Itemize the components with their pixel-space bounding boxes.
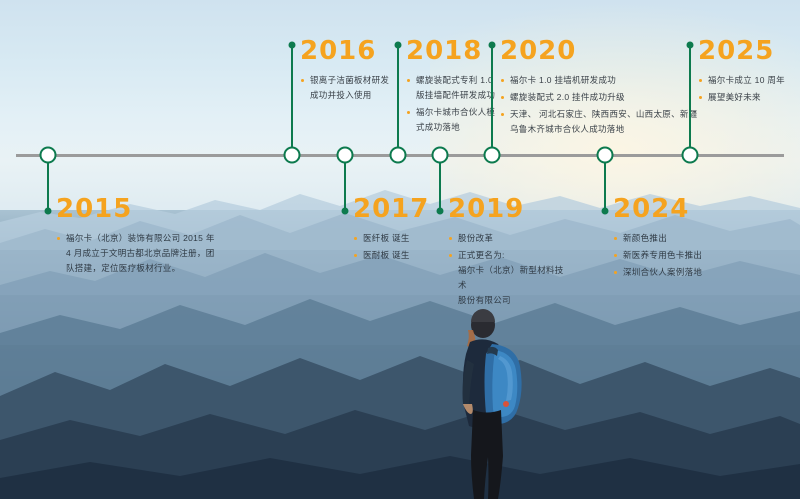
timeline-event-2017[interactable]: 2017 医纤板 诞生 医耐板 诞生 <box>353 196 439 263</box>
event-bullets-2018: 螺旋装配式专利 1.0 版挂墙配件研发成功 福尔卡城市合伙人模 式成功落地 <box>406 73 498 135</box>
event-year-2024: 2024 <box>613 196 743 222</box>
bullet-item: 新医养专用色卡推出 <box>613 248 743 263</box>
bullet-item: 福尔卡（北京）装饰有限公司 2015 年 4 月成立于文明古都北京品牌注册，团 … <box>56 231 236 276</box>
bullet-item: 深圳合伙人案例落地 <box>613 265 743 280</box>
event-bullets-2017: 医纤板 诞生 医耐板 诞生 <box>353 231 439 263</box>
bullet-item: 医耐板 诞生 <box>353 248 439 263</box>
timeline-event-2019[interactable]: 2019 股份改革 正式更名为: 福尔卡（北京）新型材料技术 股份有限公司 <box>448 196 568 308</box>
timeline-node-2015[interactable] <box>40 147 57 164</box>
stem-2025 <box>689 45 691 147</box>
bullet-item: 天津、 河北石家庄、陕西西安、山西太原、新疆 乌鲁木齐城市合伙人成功落地 <box>500 107 700 137</box>
timeline-event-2024[interactable]: 2024 新颜色推出 新医养专用色卡推出 深圳合伙人案例落地 <box>613 196 743 280</box>
event-bullets-2015: 福尔卡（北京）装饰有限公司 2015 年 4 月成立于文明古都北京品牌注册，团 … <box>56 231 236 276</box>
event-year-2015: 2015 <box>56 196 236 222</box>
stem-cap-2018 <box>395 42 402 49</box>
bullet-item: 福尔卡城市合伙人模 式成功落地 <box>406 105 498 135</box>
bullet-item: 展望美好未来 <box>698 90 798 105</box>
stem-2024 <box>604 163 606 211</box>
event-bullets-2025: 福尔卡成立 10 周年 展望美好未来 <box>698 73 798 105</box>
timeline-node-2025[interactable] <box>682 147 699 164</box>
stem-2018 <box>397 45 399 147</box>
stem-cap-2020 <box>489 42 496 49</box>
event-year-2025: 2025 <box>698 38 798 64</box>
hiker-figure <box>440 308 560 499</box>
timeline-infographic: 2015 福尔卡（北京）装饰有限公司 2015 年 4 月成立于文明古都北京品牌… <box>0 0 800 499</box>
timeline-node-2018[interactable] <box>390 147 407 164</box>
stem-2016 <box>291 45 293 147</box>
stem-cap-2015 <box>45 208 52 215</box>
event-bullets-2016: 银离子洁菌板材研发 成功并投入使用 <box>300 73 396 103</box>
bullet-item: 股份改革 <box>448 231 568 246</box>
event-bullets-2020: 福尔卡 1.0 挂墙机研发成功 螺旋装配式 2.0 挂件成功升级 天津、 河北石… <box>500 73 700 137</box>
bullet-item: 螺旋装配式 2.0 挂件成功升级 <box>500 90 700 105</box>
timeline-event-2025[interactable]: 2025 福尔卡成立 10 周年 展望美好未来 <box>698 38 798 105</box>
bullet-item: 银离子洁菌板材研发 成功并投入使用 <box>300 73 396 103</box>
bullet-item: 福尔卡成立 10 周年 <box>698 73 798 88</box>
timeline-node-2020[interactable] <box>484 147 501 164</box>
stem-cap-2024 <box>602 208 609 215</box>
bullet-item: 医纤板 诞生 <box>353 231 439 246</box>
bullet-item: 新颜色推出 <box>613 231 743 246</box>
timeline-node-2017[interactable] <box>337 147 354 164</box>
stem-2019 <box>439 163 441 211</box>
timeline-node-2024[interactable] <box>597 147 614 164</box>
bullet-item: 福尔卡 1.0 挂墙机研发成功 <box>500 73 700 88</box>
event-year-2017: 2017 <box>353 196 439 222</box>
timeline-node-2019[interactable] <box>432 147 449 164</box>
event-bullets-2019: 股份改革 正式更名为: 福尔卡（北京）新型材料技术 股份有限公司 <box>448 231 568 308</box>
stem-2017 <box>344 163 346 211</box>
timeline-event-2018[interactable]: 2018 螺旋装配式专利 1.0 版挂墙配件研发成功 福尔卡城市合伙人模 式成功… <box>406 38 498 135</box>
ridge-layer-foreground <box>0 300 800 499</box>
timeline-event-2020[interactable]: 2020 福尔卡 1.0 挂墙机研发成功 螺旋装配式 2.0 挂件成功升级 天津… <box>500 38 700 137</box>
stem-2020 <box>491 45 493 147</box>
stem-cap-2025 <box>687 42 694 49</box>
stem-cap-2016 <box>289 42 296 49</box>
timeline-event-2015[interactable]: 2015 福尔卡（北京）装饰有限公司 2015 年 4 月成立于文明古都北京品牌… <box>56 196 236 276</box>
bullet-item: 螺旋装配式专利 1.0 版挂墙配件研发成功 <box>406 73 498 103</box>
event-year-2020: 2020 <box>500 38 700 64</box>
event-year-2018: 2018 <box>406 38 498 64</box>
stem-2015 <box>47 163 49 211</box>
event-bullets-2024: 新颜色推出 新医养专用色卡推出 深圳合伙人案例落地 <box>613 231 743 280</box>
event-year-2016: 2016 <box>300 38 396 64</box>
stem-cap-2019 <box>437 208 444 215</box>
stem-cap-2017 <box>342 208 349 215</box>
timeline-node-2016[interactable] <box>284 147 301 164</box>
bullet-item: 正式更名为: 福尔卡（北京）新型材料技术 股份有限公司 <box>448 248 568 308</box>
timeline-event-2016[interactable]: 2016 银离子洁菌板材研发 成功并投入使用 <box>300 38 396 103</box>
event-year-2019: 2019 <box>448 196 568 222</box>
